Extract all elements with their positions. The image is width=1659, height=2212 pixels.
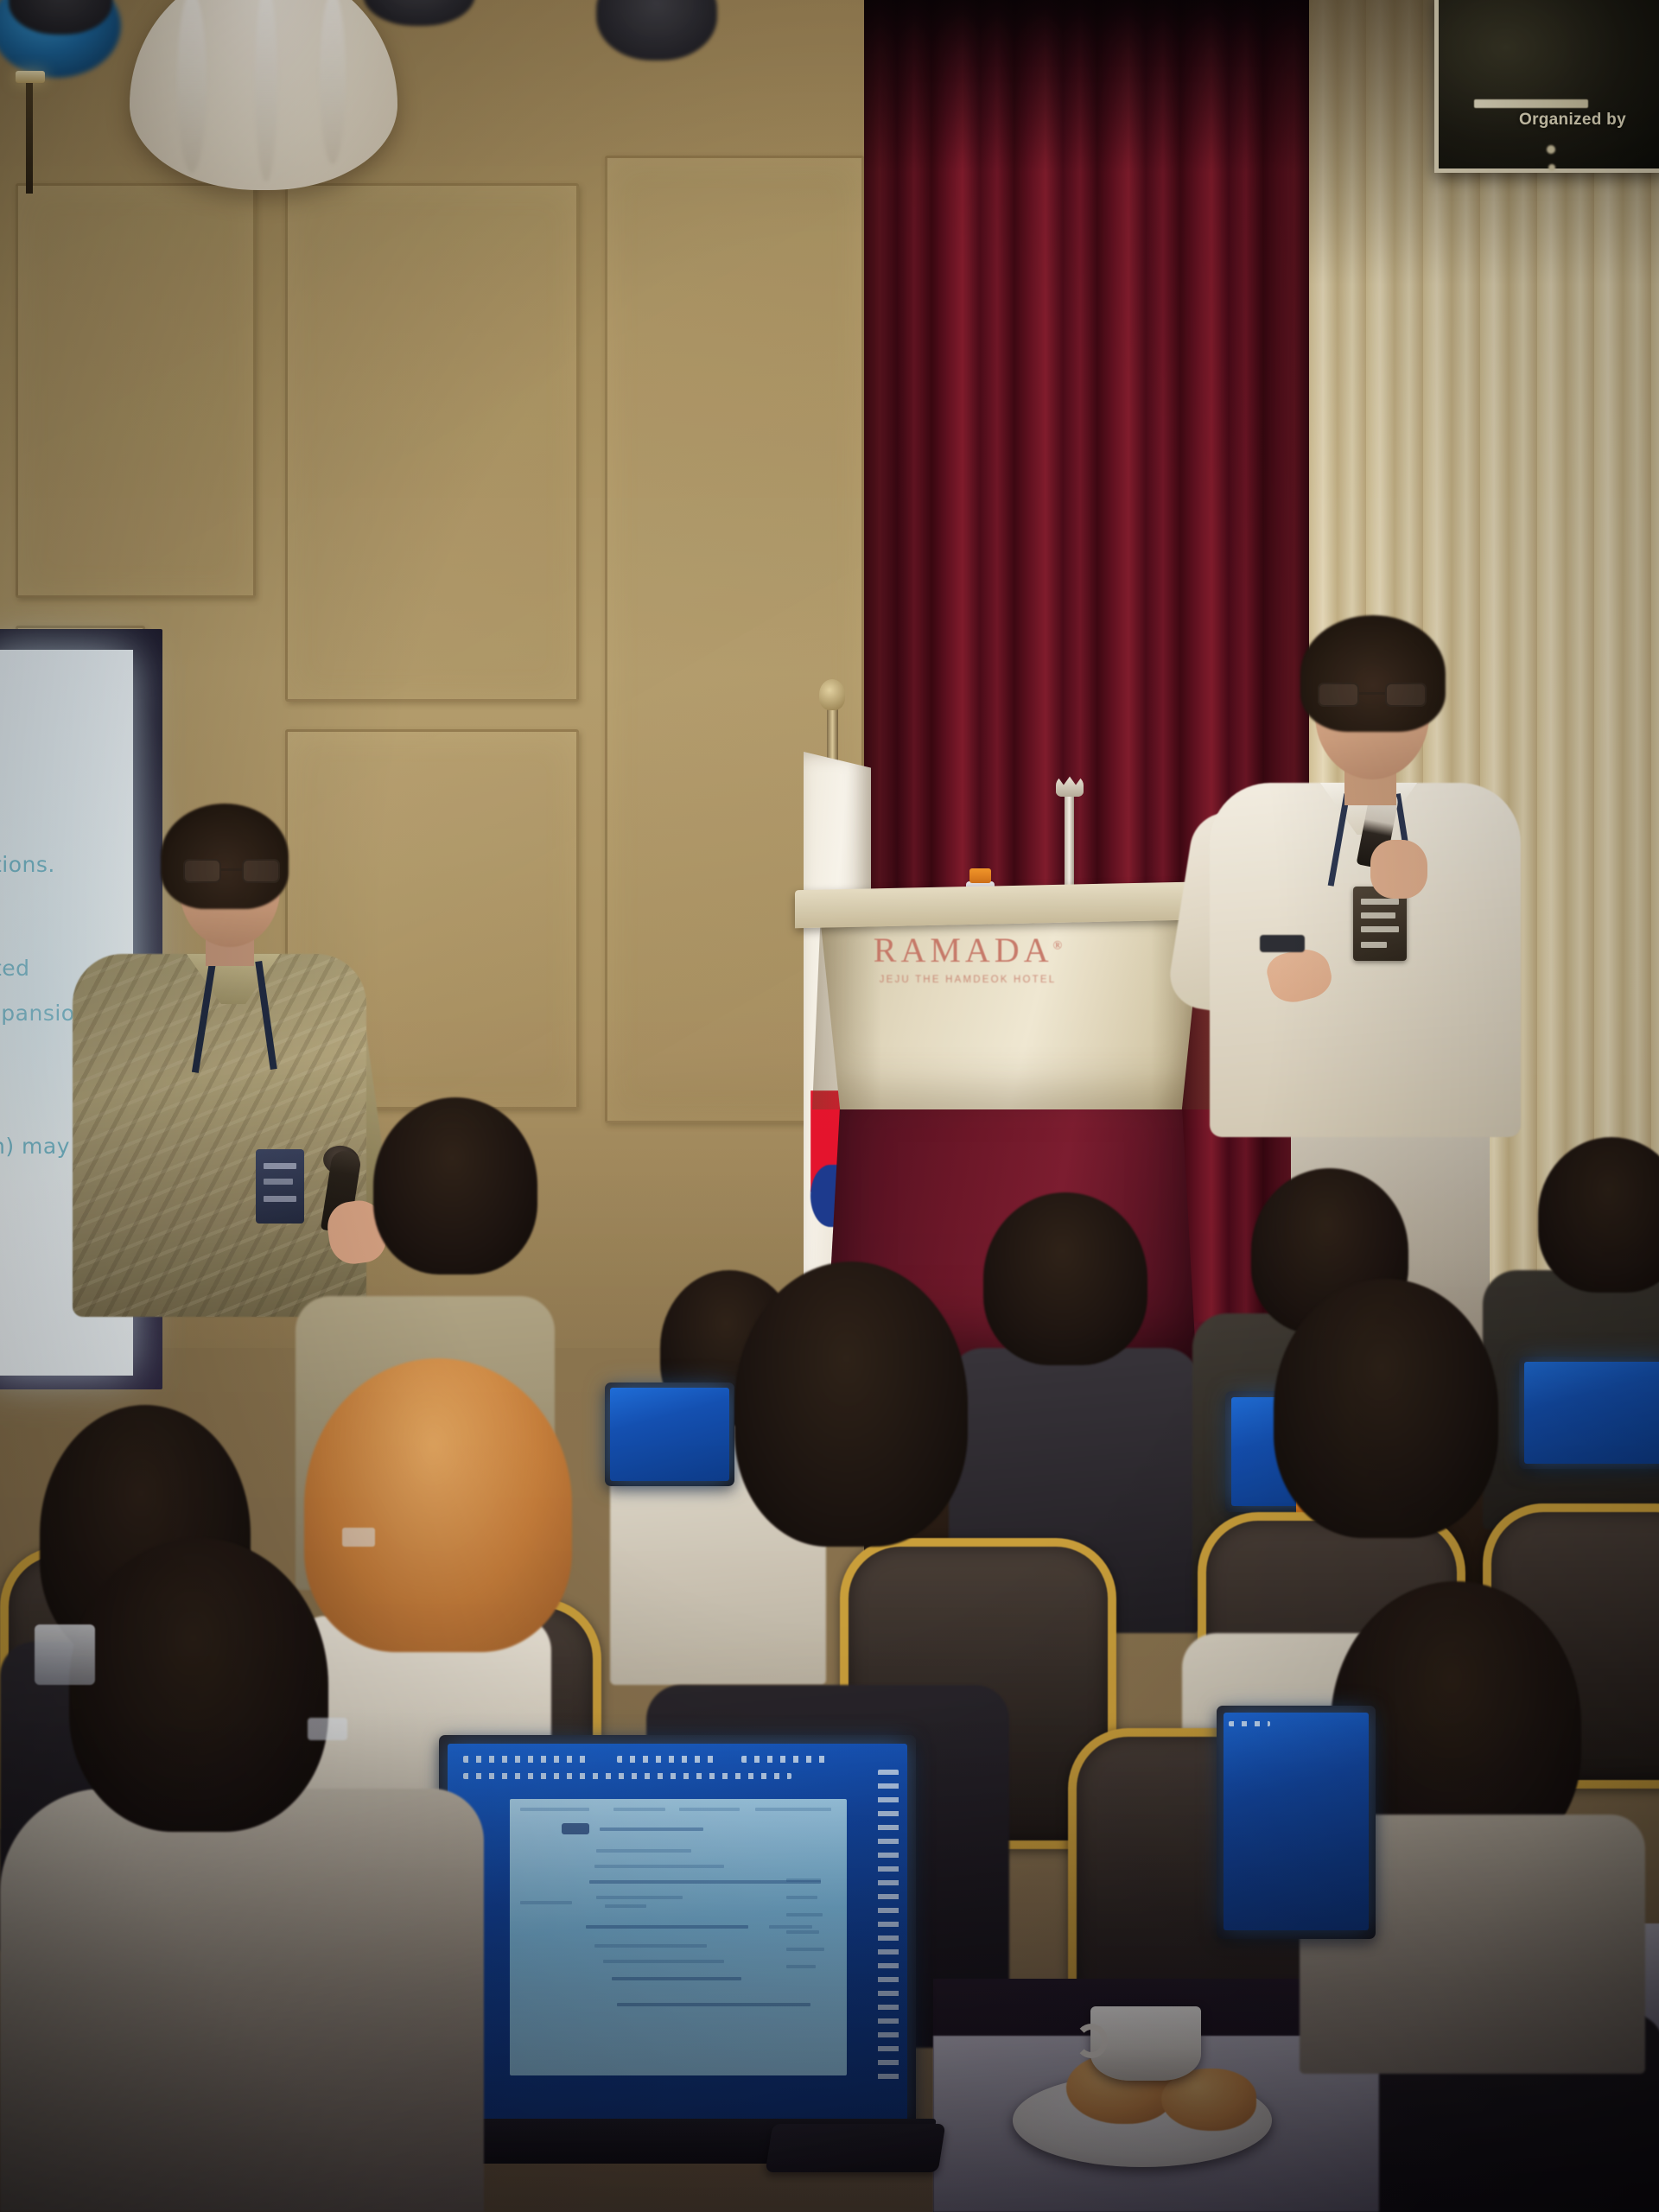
laptop-toolbar-items (741, 1756, 828, 1763)
presenter-left-shirt-pattern (73, 954, 366, 1317)
eyeglasses-right-speaker (1318, 683, 1427, 709)
banner-organized-by-label: Organized by (1519, 111, 1626, 130)
hotel-brand-text: RAMADA (874, 931, 1053, 969)
laptop-screen (1224, 1713, 1369, 1930)
wristwatch (1260, 935, 1305, 952)
coffee-cup-handle (1075, 2024, 1108, 2058)
wall-panel (16, 183, 256, 598)
doc-badge (562, 1823, 589, 1834)
banner-dot (1548, 164, 1555, 171)
speaker-right-hand (1370, 840, 1427, 899)
audience-member-hair-light (304, 1358, 572, 1652)
presenter-left-hair (161, 804, 289, 909)
audience-member-head (373, 1097, 537, 1274)
speaker-right-hair (1300, 615, 1446, 732)
conference-photo-scene: Organized by tions. ted xpansion n) may … (0, 0, 1659, 2212)
hotel-brand-name: RAMADA® (864, 930, 1071, 970)
drape-fold (177, 0, 207, 173)
hotel-subtitle: JEJU THE HAMDEOK HOTEL (864, 975, 1071, 985)
audience-member-head (1274, 1279, 1498, 1538)
sconce-stem (26, 83, 33, 194)
audience-member-head (734, 1262, 968, 1547)
far-right-laptop[interactable] (1519, 1357, 1659, 1469)
wall-panel (285, 183, 579, 702)
laptop-sidebar-strip (878, 1770, 899, 2081)
laptop-document-window (510, 1799, 847, 2075)
laptop-screen (610, 1388, 729, 1481)
foreground-person-head (69, 1538, 328, 1832)
registered-mark: ® (1053, 940, 1063, 953)
water-bottle-cap (969, 868, 991, 883)
laptop-screen (448, 1744, 907, 2124)
wall-sconce (16, 71, 45, 83)
podium-microphone-stem (1065, 791, 1074, 888)
laptop-tab-strip (463, 1773, 791, 1779)
drinking-glass (35, 1624, 95, 1685)
smartphone[interactable] (766, 2124, 946, 2172)
eyeglasses-foreground-person (308, 1718, 347, 1740)
banner-masked-title (1474, 99, 1588, 108)
audience-member-head (983, 1192, 1147, 1365)
slide-line-2: ted (0, 956, 30, 981)
flag-finial (819, 679, 845, 710)
foreground-person-shoulders (0, 1789, 484, 2212)
laptop-toolbar-items (617, 1756, 721, 1763)
slide-line-4: n) may (0, 1134, 70, 1159)
eyeglasses-audience (342, 1528, 375, 1547)
presenter-left-name-badge (256, 1149, 304, 1224)
laptop-taskbar (1229, 1721, 1270, 1726)
laptop-window-controls (463, 1756, 593, 1763)
eyeglasses-left-presenter (183, 859, 280, 883)
foreground-laptop[interactable] (439, 1735, 916, 2133)
right-laptop[interactable] (1217, 1706, 1376, 1939)
banner-dot (1547, 145, 1555, 154)
slide-line-1: tions. (0, 852, 55, 877)
mid-left-laptop[interactable] (605, 1382, 734, 1486)
podium-hotel-logo: RAMADA® JEJU THE HAMDEOK HOTEL (864, 930, 1071, 985)
curtain-top-shadow (864, 0, 1322, 173)
laptop-screen (1524, 1362, 1659, 1464)
